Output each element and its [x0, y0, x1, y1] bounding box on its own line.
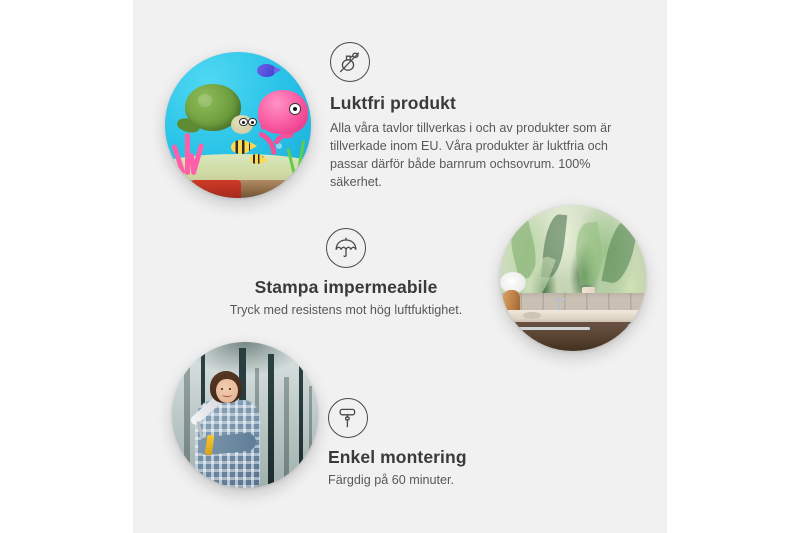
umbrella-icon [326, 228, 366, 268]
woman-with-paint-roller-forest-thumbnail [172, 342, 318, 488]
feature-title: Luktfri produkt [330, 93, 620, 114]
soap-dish [523, 312, 541, 319]
person-face [216, 379, 238, 404]
vanity-cabinet [506, 322, 646, 351]
octopus-head [258, 90, 308, 134]
yellow-fish-icon [250, 154, 265, 164]
feature-description: Tryck med resistens mot hög luftfuktighe… [196, 302, 496, 320]
feature-mounting: Enkel montering Färgdig på 60 minuter. [328, 398, 598, 490]
yellow-fish-icon [231, 140, 251, 155]
octopus-eye [289, 103, 301, 115]
paint-roller-icon [328, 398, 368, 438]
bathroom-artwork [500, 205, 646, 351]
underwater-kids-mural-thumbnail [165, 52, 311, 198]
no-odour-spray-bottle-icon [330, 42, 370, 82]
bathroom-leaf-wallpaper-thumbnail [500, 205, 646, 351]
promo-graphic: Luktfri produkt Alla våra tavlor tillver… [0, 0, 800, 533]
forest-artwork [172, 342, 318, 488]
ocean-floor [165, 180, 311, 198]
blue-fish-icon [257, 64, 276, 77]
feature-description: Alla våra tavlor tillverkas i och av pro… [330, 120, 620, 192]
coral-icon [172, 131, 213, 175]
feature-odourless: Luktfri produkt Alla våra tavlor tillver… [330, 42, 620, 192]
ocean-artwork [165, 52, 311, 198]
forest-canopy [172, 342, 318, 400]
tile-backsplash [500, 293, 646, 312]
feature-title: Enkel montering [328, 447, 598, 468]
feature-title: Stampa impermeabile [196, 277, 496, 298]
feature-waterproof: Stampa impermeabile Tryck med resistens … [196, 228, 496, 320]
tree [309, 386, 312, 488]
feature-description: Färgdig på 60 minuter. [328, 472, 598, 490]
